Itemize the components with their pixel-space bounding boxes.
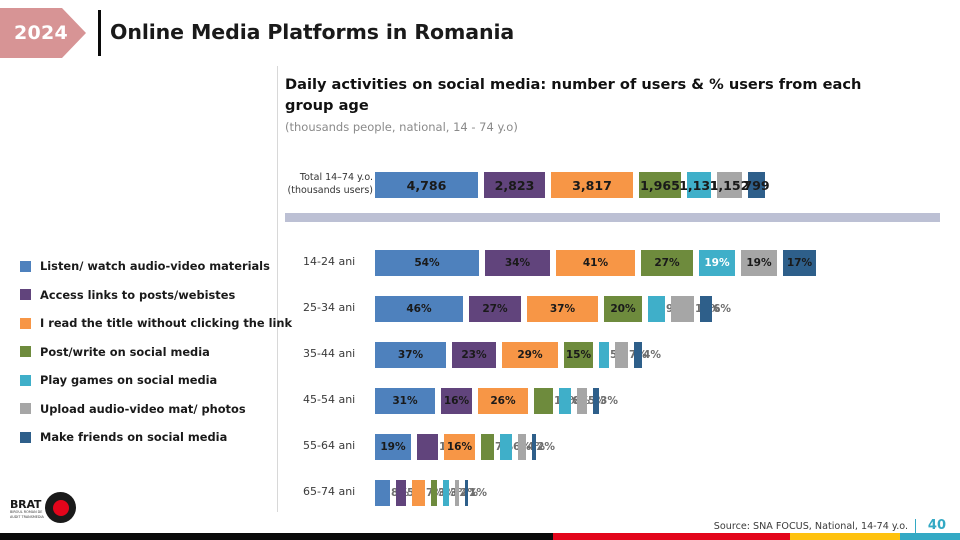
legend-swatch-icon	[20, 261, 31, 272]
chart-bar: 3%	[593, 388, 599, 414]
bar-value-label: 2%	[537, 441, 555, 453]
legend-swatch-icon	[20, 432, 31, 443]
section-divider-bar	[285, 213, 940, 222]
chart-row: 14-24 ani54%34%41%27%19%19%17%	[285, 250, 945, 276]
brat-dot-icon	[53, 500, 69, 516]
total-bar: 1,965	[639, 172, 681, 198]
legend-item-label: Play games on social media	[40, 373, 217, 387]
bar-value-label: 34%	[505, 257, 530, 269]
chart-bar: 37%	[527, 296, 598, 322]
total-label-line1: Total 14–74 y.o.	[285, 172, 373, 185]
legend-item: Make friends on social media	[20, 423, 280, 452]
chart-legend: Listen/ watch audio-video materialsAcces…	[20, 252, 280, 452]
bar-value-label: 20%	[610, 303, 635, 315]
total-label-line2: (thousands users)	[285, 185, 373, 198]
chart-bar: 5%	[577, 388, 587, 414]
total-bar: 1,152	[717, 172, 742, 198]
total-bar: 2,823	[484, 172, 545, 198]
chart-bar: 20%	[604, 296, 642, 322]
bar-value-label: 19%	[380, 441, 405, 453]
chart-row: 45-54 ani31%16%26%10%6%5%3%	[285, 388, 945, 414]
brat-ring-icon	[45, 492, 76, 523]
total-bar-value-label: 4,786	[407, 178, 447, 193]
bar-value-label: 16%	[447, 441, 472, 453]
year-badge: 2024	[0, 8, 86, 58]
legend-item-label: Listen/ watch audio-video materials	[40, 259, 270, 273]
chart-bar: 6%	[559, 388, 571, 414]
footer-strip-segment	[553, 533, 790, 540]
total-bar: 799	[748, 172, 765, 198]
chart-bar: 27%	[641, 250, 693, 276]
chart-bar: 7%	[615, 342, 628, 368]
bar-value-label: 46%	[406, 303, 431, 315]
bar-value-label: 37%	[550, 303, 575, 315]
header-divider	[98, 10, 101, 56]
chart-bar: 26%	[478, 388, 528, 414]
legend-swatch-icon	[20, 403, 31, 414]
chart-bar: 3%	[431, 480, 437, 506]
total-bar: 1,131	[687, 172, 711, 198]
bar-value-label: 29%	[517, 349, 542, 361]
chart-row: 25-34 ani46%27%37%20%9%12%6%	[285, 296, 945, 322]
year-label: 2024	[14, 22, 68, 44]
legend-item: Listen/ watch audio-video materials	[20, 252, 280, 281]
row-category-label: 55-64 ani	[303, 439, 375, 452]
legend-item-label: Access links to posts/webistes	[40, 288, 235, 302]
bar-value-label: 27%	[654, 257, 679, 269]
chart-bar: 7%	[481, 434, 494, 460]
total-bar-value-label: 799	[743, 178, 769, 193]
bar-value-label: 4%	[643, 349, 661, 361]
chart-bar: 5%	[396, 480, 406, 506]
chart-bar: 41%	[556, 250, 635, 276]
chart-bar: 8%	[375, 480, 390, 506]
legend-item: Play games on social media	[20, 366, 280, 395]
total-bar-value-label: 3,817	[572, 178, 612, 193]
bar-value-label: 19%	[704, 257, 729, 269]
chart-bar: 4%	[634, 342, 642, 368]
total-bar-value-label: 1,965	[640, 178, 680, 193]
chart-bar: 29%	[502, 342, 558, 368]
legend-item-label: Post/write on social media	[40, 345, 210, 359]
footer-strip-segment	[0, 533, 553, 540]
chart-bar: 16%	[444, 434, 475, 460]
legend-swatch-icon	[20, 289, 31, 300]
chart-bar: 46%	[375, 296, 463, 322]
chart-bar: 17%	[783, 250, 816, 276]
bar-value-label: 3%	[600, 395, 618, 407]
chart-bar: 3%	[443, 480, 449, 506]
bar-value-label: 16%	[444, 395, 469, 407]
chart-bar: 37%	[375, 342, 446, 368]
bar-value-label: 54%	[414, 257, 439, 269]
chart-bar: 15%	[564, 342, 593, 368]
chart-bar: 9%	[648, 296, 665, 322]
chart-bar: 19%	[699, 250, 735, 276]
chart-bar: 6%	[700, 296, 712, 322]
chart-bar: 54%	[375, 250, 479, 276]
bar-value-label: 31%	[392, 395, 417, 407]
source-note: Source: SNA FOCUS, National, 14-74 y.o.	[714, 521, 908, 532]
chart-subtitle: (thousands people, national, 14 - 74 y.o…	[285, 120, 518, 134]
chart-bar: 23%	[452, 342, 496, 368]
bar-value-label: 6%	[713, 303, 731, 315]
chart-bar: 16%	[441, 388, 472, 414]
total-bar: 3,817	[551, 172, 633, 198]
bar-value-label: 26%	[490, 395, 515, 407]
legend-swatch-icon	[20, 318, 31, 329]
footer-strip-segment	[790, 533, 900, 540]
page-number-separator	[915, 519, 916, 534]
chart-bar: 6%	[500, 434, 512, 460]
legend-swatch-icon	[20, 346, 31, 357]
slide-header: 2024 Online Media Platforms in Romania	[0, 0, 960, 62]
footer-strip-segment	[900, 533, 960, 540]
bar-value-label: 37%	[398, 349, 423, 361]
chart-row: 65-74 ani8%5%7%3%3%2%1%	[285, 480, 945, 506]
chart-bar: 2%	[455, 480, 459, 506]
chart-row: 35-44 ani37%23%29%15%5%7%4%	[285, 342, 945, 368]
legend-swatch-icon	[20, 375, 31, 386]
chart-bar: 34%	[485, 250, 550, 276]
total-bar: 4,786	[375, 172, 478, 198]
total-bar-value-label: 2,823	[495, 178, 535, 193]
page-number: 40	[928, 518, 946, 533]
row-category-label: 25-34 ani	[303, 301, 375, 314]
chart-title: Daily activities on social media: number…	[285, 74, 885, 116]
chart-bar: 4%	[518, 434, 526, 460]
row-category-label: 14-24 ani	[303, 255, 375, 268]
chart-bar: 5%	[599, 342, 609, 368]
bar-value-label: 15%	[566, 349, 591, 361]
row-category-label: 35-44 ani	[303, 347, 375, 360]
bar-value-label: 19%	[746, 257, 771, 269]
chart-bar: 1%	[465, 480, 468, 506]
chart-bar: 2%	[532, 434, 536, 460]
bar-value-label: 23%	[461, 349, 486, 361]
legend-item-label: Upload audio-video mat/ photos	[40, 402, 246, 416]
footer-color-strip	[0, 533, 960, 540]
row-category-label: 45-54 ani	[303, 393, 375, 406]
legend-item-label: Make friends on social media	[40, 430, 227, 444]
chart-bar: 11%	[417, 434, 438, 460]
chart-row: 55-64 ani19%11%16%7%6%4%2%	[285, 434, 945, 460]
brat-logo: BRAT BIROUL ROMAN DE AUDIT TRANSMEDIA	[10, 492, 76, 524]
chart-bar: 12%	[671, 296, 694, 322]
legend-item: Upload audio-video mat/ photos	[20, 395, 280, 424]
brat-subtitle: BIROUL ROMAN DE AUDIT TRANSMEDIA	[10, 510, 44, 520]
legend-item: I read the title without clicking the li…	[20, 309, 280, 338]
bar-value-label: 1%	[469, 487, 487, 499]
chart-bar: 19%	[741, 250, 777, 276]
row-category-label: 65-74 ani	[303, 485, 375, 498]
legend-item-label: I read the title without clicking the li…	[40, 316, 292, 330]
legend-item: Post/write on social media	[20, 338, 280, 367]
legend-item: Access links to posts/webistes	[20, 281, 280, 310]
bar-value-label: 41%	[583, 257, 608, 269]
chart-bar: 10%	[534, 388, 553, 414]
chart-bar: 27%	[469, 296, 521, 322]
chart-bar: 31%	[375, 388, 435, 414]
bar-value-label: 27%	[482, 303, 507, 315]
total-row-label: Total 14–74 y.o. (thousands users)	[285, 172, 373, 197]
chart-bar: 7%	[412, 480, 425, 506]
bar-value-label: 17%	[787, 257, 812, 269]
chart-bar: 19%	[375, 434, 411, 460]
page-title: Online Media Platforms in Romania	[110, 20, 514, 44]
